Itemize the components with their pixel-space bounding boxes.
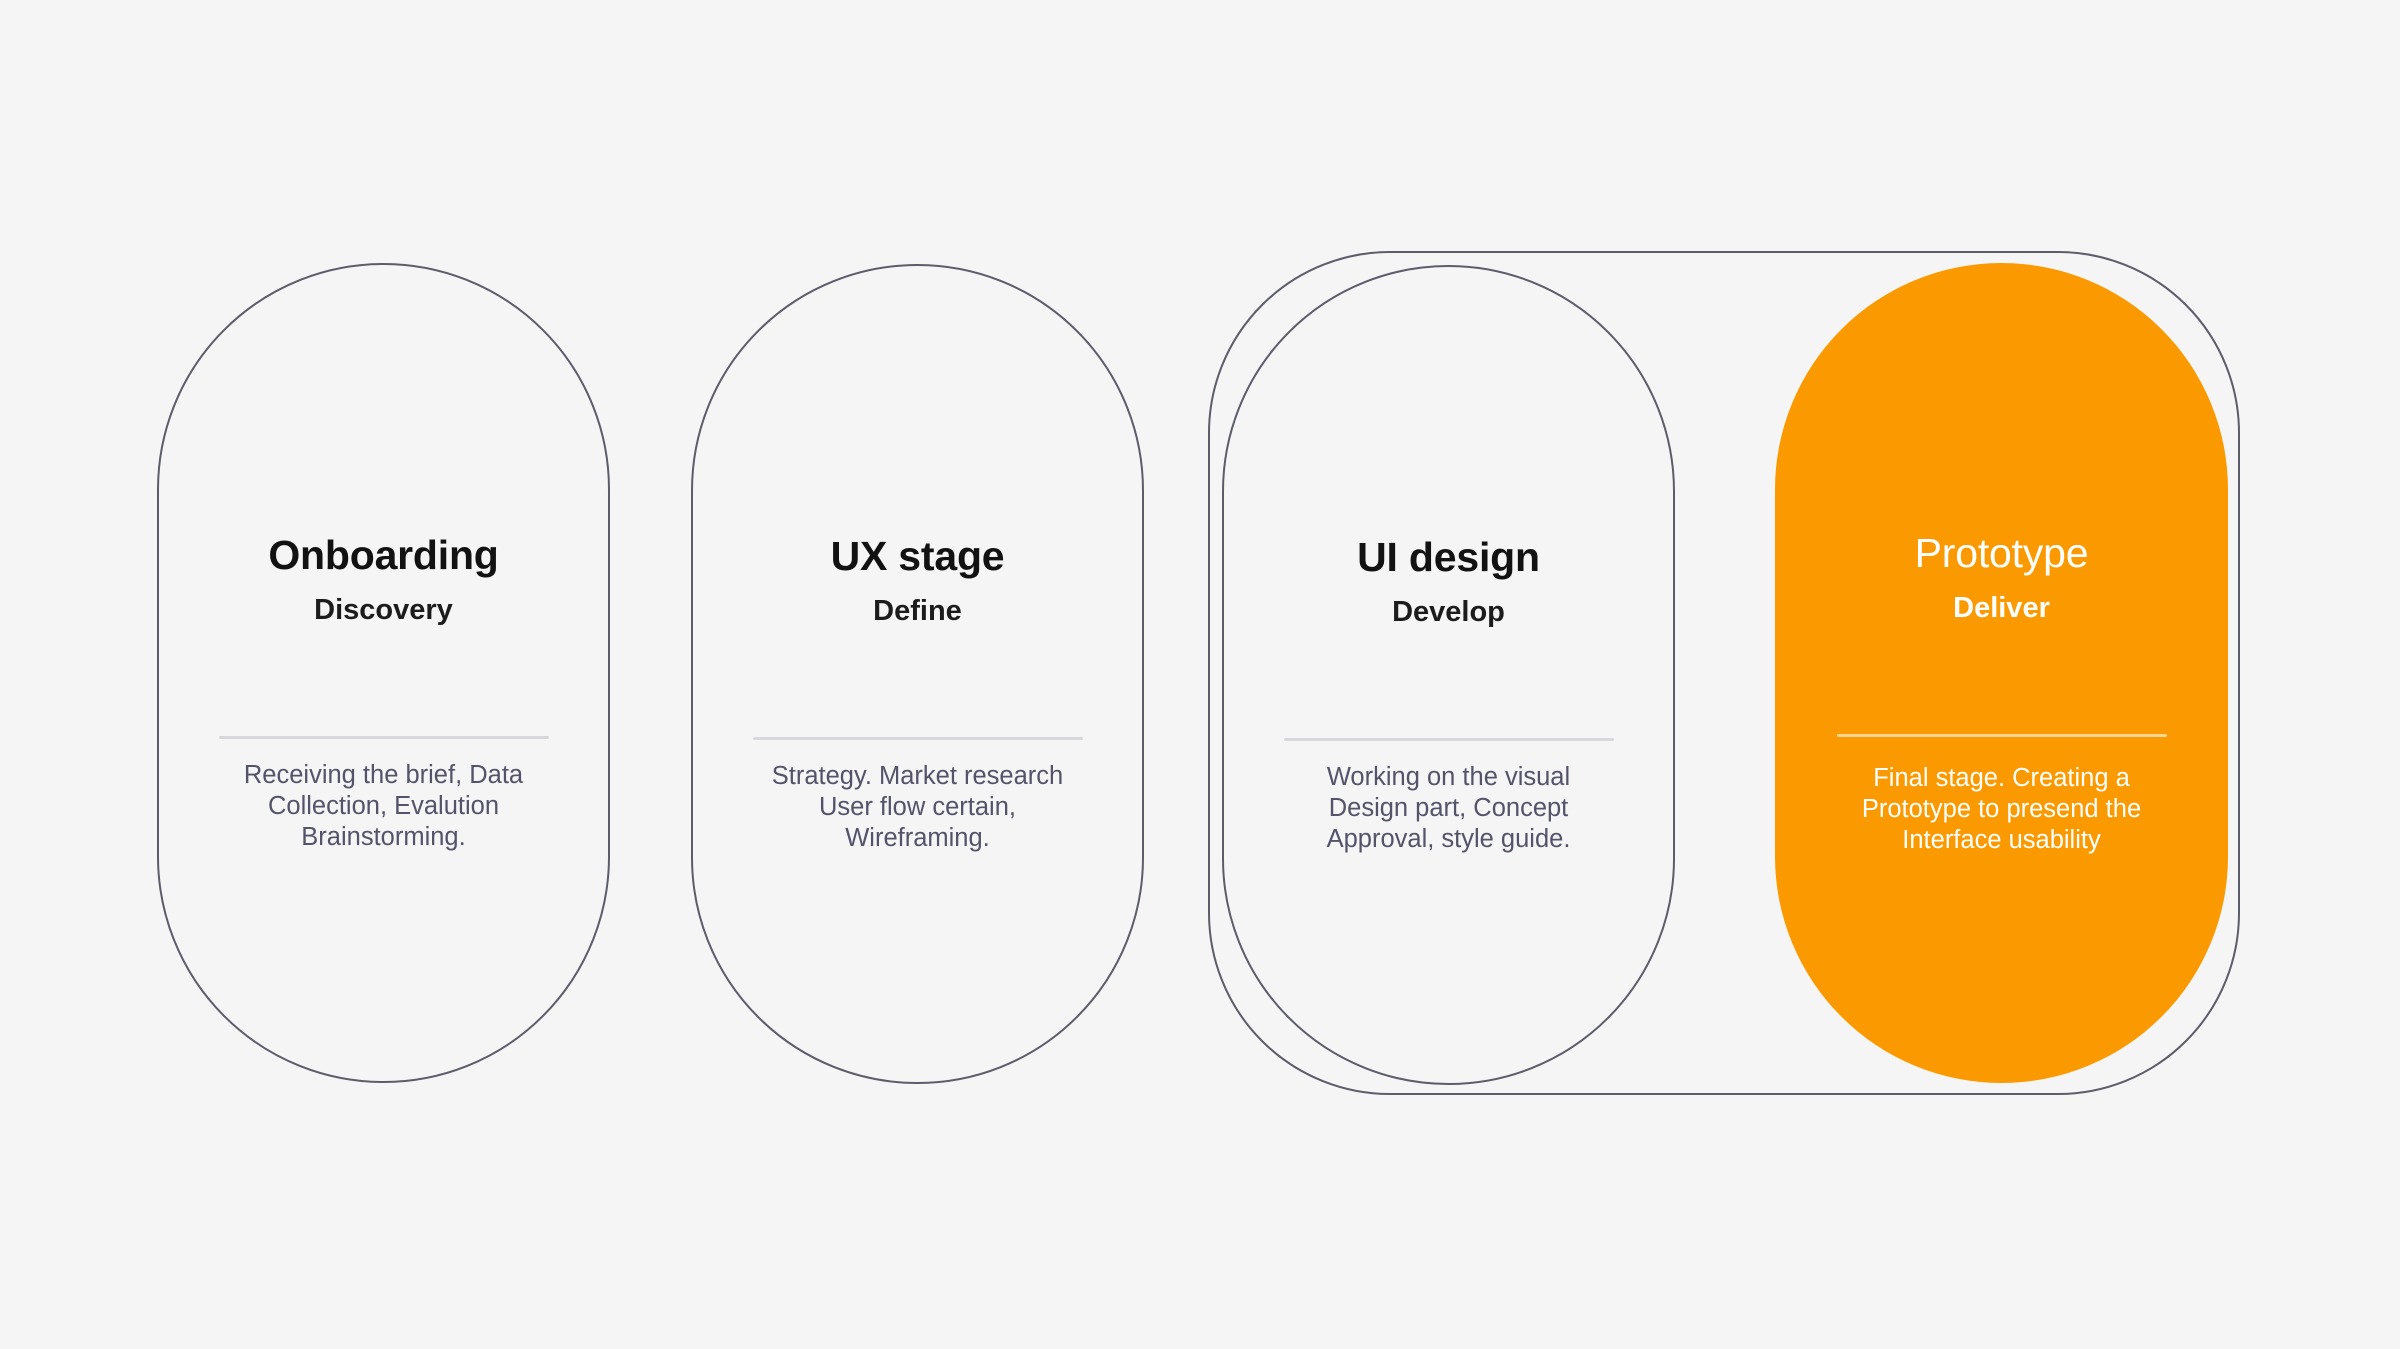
card-title: UI design: [1224, 537, 1673, 578]
card-body: Working on the visual Design part, Conce…: [1224, 762, 1673, 855]
stage-card-onboarding[interactable]: Onboarding Discovery Receiving the brief…: [157, 263, 610, 1083]
card-title: Onboarding: [159, 535, 608, 576]
card-divider: [1837, 734, 2167, 737]
card-subtitle: Deliver: [1775, 594, 2228, 623]
stage-card-ux-stage[interactable]: UX stage Define Strategy. Market researc…: [691, 264, 1144, 1084]
design-process-diagram: Onboarding Discovery Receiving the brief…: [0, 0, 2400, 1349]
divider-wrap: [1224, 530, 1673, 533]
divider-wrap: [159, 528, 608, 531]
card-divider: [1284, 738, 1614, 741]
card-subtitle: Develop: [1224, 598, 1673, 627]
card-divider: [219, 736, 549, 739]
card-body: Strategy. Market research User flow cert…: [693, 761, 1142, 854]
card-body: Final stage. Creating a Prototype to pre…: [1775, 763, 2228, 856]
card-divider: [753, 737, 1083, 740]
stage-card-prototype[interactable]: Prototype Deliver Final stage. Creating …: [1775, 263, 2228, 1083]
card-subtitle: Define: [693, 597, 1142, 626]
card-title: Prototype: [1775, 533, 2228, 574]
divider-wrap: [1775, 526, 2228, 529]
card-body: Receiving the brief, Data Collection, Ev…: [159, 760, 608, 853]
card-subtitle: Discovery: [159, 596, 608, 625]
card-title: UX stage: [693, 536, 1142, 577]
stage-card-ui-design[interactable]: UI design Develop Working on the visual …: [1222, 265, 1675, 1085]
divider-wrap: [693, 529, 1142, 532]
